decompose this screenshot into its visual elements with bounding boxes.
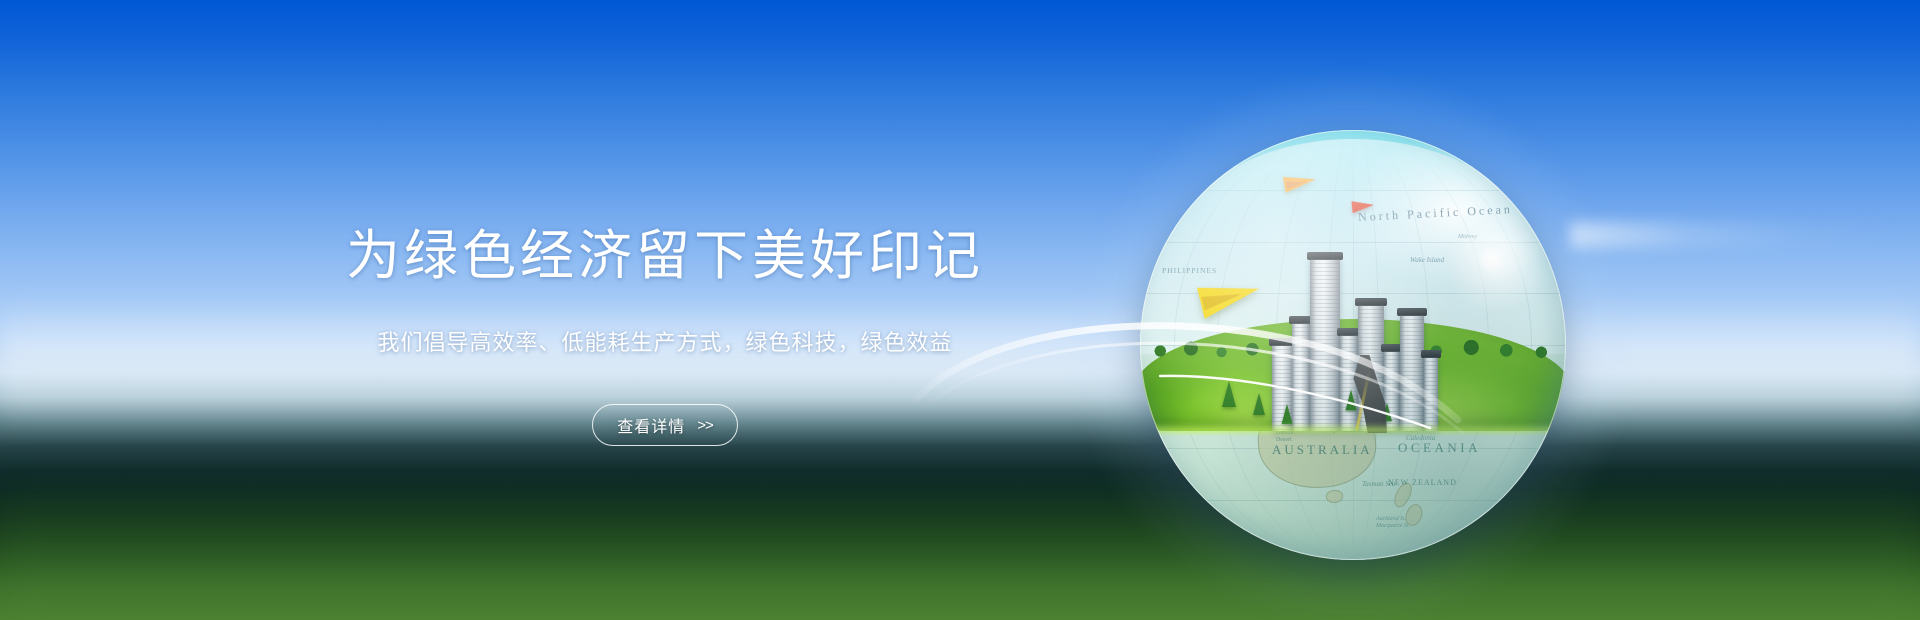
orbit-swoosh-tail — [1570, 222, 1900, 248]
ground-blur — [0, 470, 1920, 620]
tree-icon — [1345, 390, 1356, 411]
hero-cta-wrapper: 查看详情 >> — [0, 404, 1330, 446]
hero-banner: North Pacific Ocean Wake Island Midway P… — [0, 0, 1920, 620]
skyscraper-icon — [1424, 357, 1438, 431]
skyscraper-icon — [1400, 315, 1424, 431]
chevron-right-icon: >> — [697, 417, 713, 434]
view-details-button[interactable]: 查看详情 >> — [592, 404, 738, 446]
paper-plane-red-icon — [1351, 199, 1374, 213]
hero-headline: 为绿色经济留下美好印记 — [0, 224, 1330, 288]
hero-subheadline: 我们倡导高效率、低能耗生产方式，绿色科技，绿色效益 — [0, 328, 1330, 358]
landmass-tasmania — [1326, 490, 1343, 503]
view-details-label: 查看详情 — [617, 413, 685, 437]
sun-flare-core-icon — [1478, 246, 1504, 272]
